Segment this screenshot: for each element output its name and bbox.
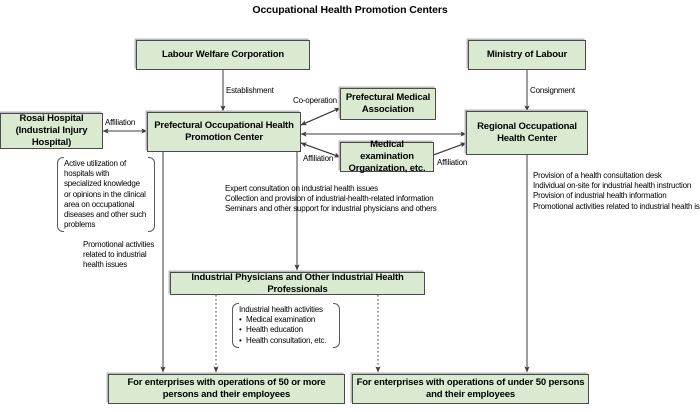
node-industrial-physicians[interactable]: Industrial Physicians and Other Industri… xyxy=(170,272,425,295)
node-label: Ministry of Labour xyxy=(487,49,567,61)
edge-label-establishment: Establishment xyxy=(226,86,274,96)
node-label: Labour Welfare Corporation xyxy=(162,49,284,61)
node-rosai-hospital[interactable]: Rosai Hospital (Industrial Injury Hospit… xyxy=(0,113,103,149)
note-bullet-list: Medical examination Health education Hea… xyxy=(239,315,334,346)
note-promotional-activities: Promotional activities related to indust… xyxy=(83,240,154,271)
note-heading: Industrial health activities xyxy=(239,305,334,315)
note-line: Provision of industrial health informati… xyxy=(533,191,700,201)
bracket-left xyxy=(57,157,64,232)
edge-label-affiliation-left: Affiliation xyxy=(105,118,135,128)
bracket-right xyxy=(333,303,340,348)
node-regional-occupational-health-center[interactable]: Regional Occupational Health Center xyxy=(466,111,588,155)
node-prefectural-ohp-center[interactable]: Prefectural Occupational Health Promotio… xyxy=(147,112,301,152)
note-bullet: Health consultation, etc. xyxy=(239,336,334,346)
note-line: related to industrial xyxy=(83,250,154,260)
bracket-right xyxy=(148,157,155,232)
note-line: health issues xyxy=(83,260,154,270)
node-label: Medical examination Organization, etc. xyxy=(344,139,430,175)
note-line: Active utilization of xyxy=(64,159,149,169)
note-line: problems xyxy=(64,220,149,230)
node-label: Industrial Physicians and Other Industri… xyxy=(174,272,421,296)
note-line: Provision of a health consultation desk xyxy=(533,171,700,181)
node-ministry-of-labour[interactable]: Ministry of Labour xyxy=(468,40,586,70)
note-line: area on occupational xyxy=(64,200,149,210)
note-lines: Active utilization of hospitals with spe… xyxy=(64,159,149,230)
node-label: Rosai Hospital (Industrial Injury Hospit… xyxy=(4,113,99,149)
note-line: Promotional activities related to indust… xyxy=(533,202,700,212)
node-label: For enterprises with operations of 50 or… xyxy=(112,377,341,401)
diagram-canvas: Occupational Health Promotion Centers xyxy=(0,0,700,412)
note-line: Promotional activities xyxy=(83,240,154,250)
node-label: Prefectural Occupational Health Promotio… xyxy=(151,120,297,144)
edge-label-consignment: Consignment xyxy=(530,86,575,96)
note-regional-services: Provision of a health consultation desk … xyxy=(533,171,700,212)
note-industrial-health-activities: Industrial health activities Medical exa… xyxy=(232,303,340,348)
note-line: diseases and other such xyxy=(64,210,149,220)
node-labour-welfare-corporation[interactable]: Labour Welfare Corporation xyxy=(136,40,310,70)
note-bullet: Health education xyxy=(239,325,334,335)
bracket-left xyxy=(232,303,239,348)
node-label: For enterprises with operations of under… xyxy=(356,377,585,401)
note-line: specialized knowledge xyxy=(64,179,149,189)
note-bullet: Medical examination xyxy=(239,315,334,325)
node-label: Regional Occupational Health Center xyxy=(470,121,584,145)
node-enterprises-under-50[interactable]: For enterprises with operations of under… xyxy=(352,374,589,404)
edge-label-affiliation-center: Affiliation xyxy=(303,154,333,164)
node-enterprises-50-or-more[interactable]: For enterprises with operations of 50 or… xyxy=(108,374,345,404)
note-line: hospitals with xyxy=(64,169,149,179)
edge-label-affiliation-right: Affiliation xyxy=(437,158,467,168)
page-title: Occupational Health Promotion Centers xyxy=(0,4,700,16)
note-line: Collection and provision of industrial-h… xyxy=(225,194,437,204)
edge-label-cooperation: Co-operation xyxy=(293,96,337,106)
node-label: Prefectural Medical Association xyxy=(344,92,432,116)
node-prefectural-medical-association[interactable]: Prefectural Medical Association xyxy=(340,88,436,120)
note-line: or opinions in the clinical xyxy=(64,190,149,200)
node-medical-examination-organization[interactable]: Medical examination Organization, etc. xyxy=(340,142,434,172)
note-hospital-utilization: Active utilization of hospitals with spe… xyxy=(57,157,155,232)
note-line: Individual on-site for industrial health… xyxy=(533,181,700,191)
note-line: Seminars and other support for industria… xyxy=(225,204,437,214)
note-line: Expert consultation on industrial health… xyxy=(225,184,437,194)
note-center-services: Expert consultation on industrial health… xyxy=(225,184,437,215)
